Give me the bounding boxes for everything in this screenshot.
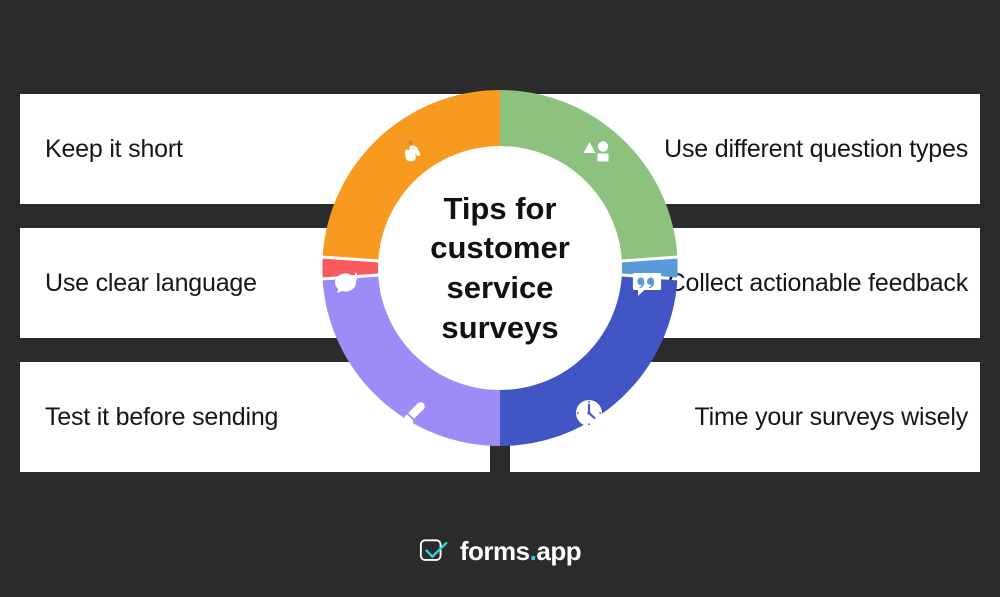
panel-label: Test it before sending bbox=[45, 403, 278, 432]
brand-footer: forms.app bbox=[0, 536, 1000, 567]
panel-label: Keep it short bbox=[45, 135, 183, 164]
infographic-canvas: Keep it short Use clear language Test it… bbox=[0, 0, 1000, 597]
panel-label: Use different question types bbox=[664, 135, 968, 164]
brand-wordmark: forms.app bbox=[460, 536, 581, 567]
center-title: Tips for customer service surveys bbox=[400, 189, 600, 348]
segment-arc-use-clear-language bbox=[322, 259, 378, 278]
panel-label: Use clear language bbox=[45, 269, 257, 298]
brand-first: forms bbox=[460, 536, 530, 566]
brand-last: app bbox=[536, 536, 581, 566]
segment-arc-collect-actionable-feedback bbox=[621, 259, 677, 278]
panel-label: Collect actionable feedback bbox=[668, 269, 968, 298]
forms-app-check-icon bbox=[419, 537, 449, 567]
panel-label: Time your surveys wisely bbox=[695, 403, 969, 432]
center-hub: Tips for customer service surveys bbox=[378, 146, 622, 390]
